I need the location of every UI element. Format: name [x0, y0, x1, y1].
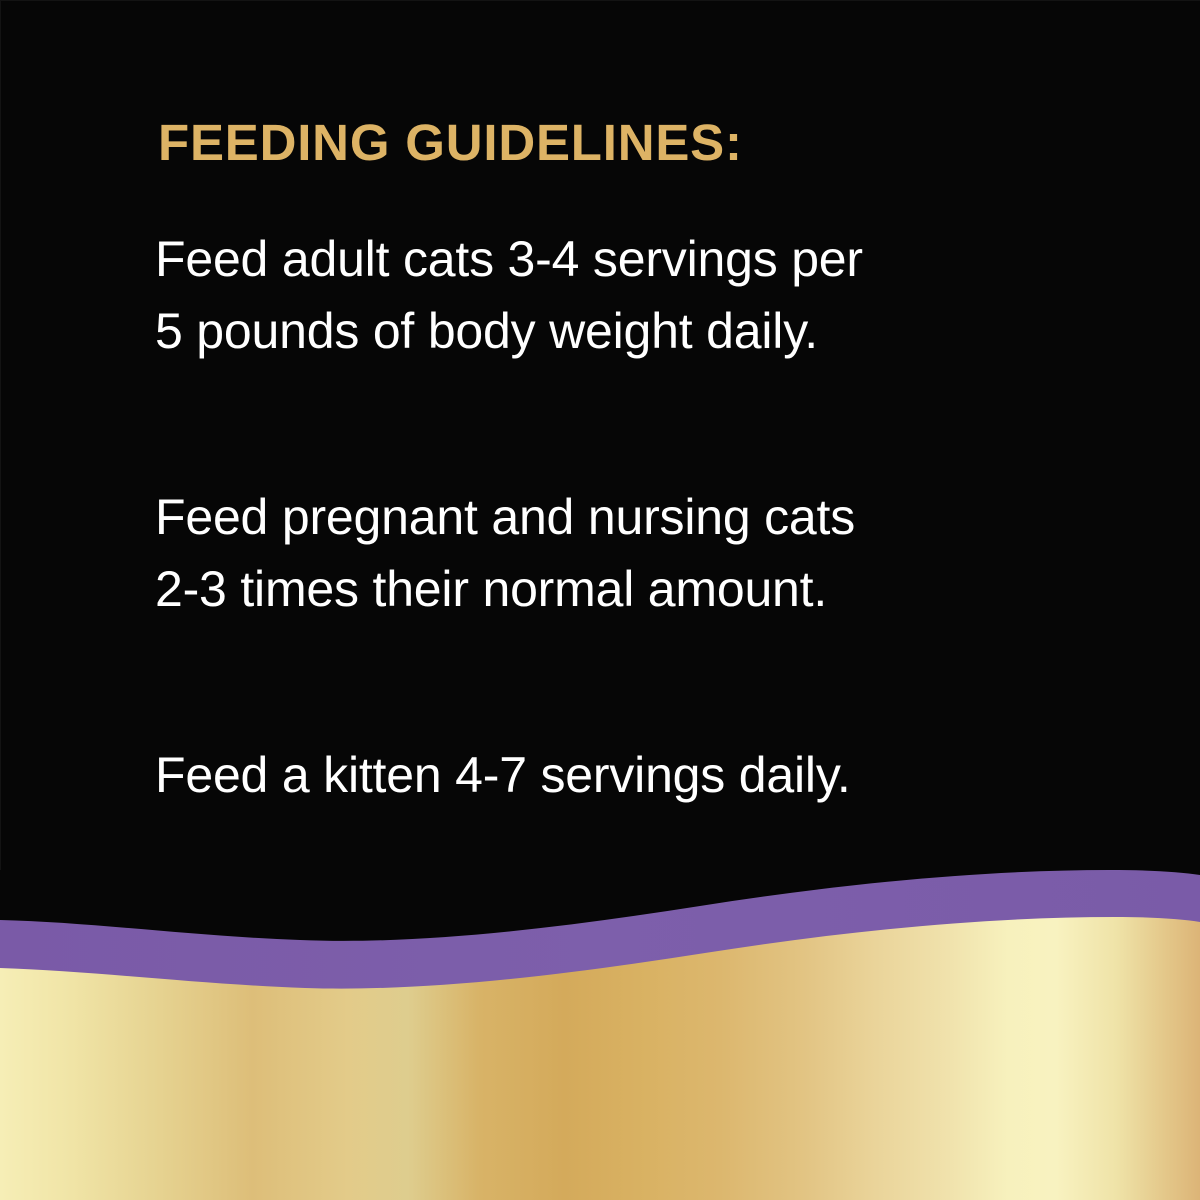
guideline-kitten: Feed a kitten 4-7 servings daily. [155, 739, 1055, 811]
feeding-guidelines-content: FEEDING GUIDELINES: Feed adult cats 3-4 … [155, 112, 1055, 811]
guideline-adult-cats: Feed adult cats 3-4 servings per 5 pound… [155, 223, 1055, 367]
feeding-guidelines-heading: FEEDING GUIDELINES: [158, 112, 1055, 174]
feeding-guidelines-panel: FEEDING GUIDELINES: Feed adult cats 3-4 … [0, 0, 1200, 1200]
bottom-wave-decoration [0, 870, 1200, 1200]
guideline-pregnant-nursing-cats: Feed pregnant and nursing cats 2-3 times… [155, 481, 1055, 625]
